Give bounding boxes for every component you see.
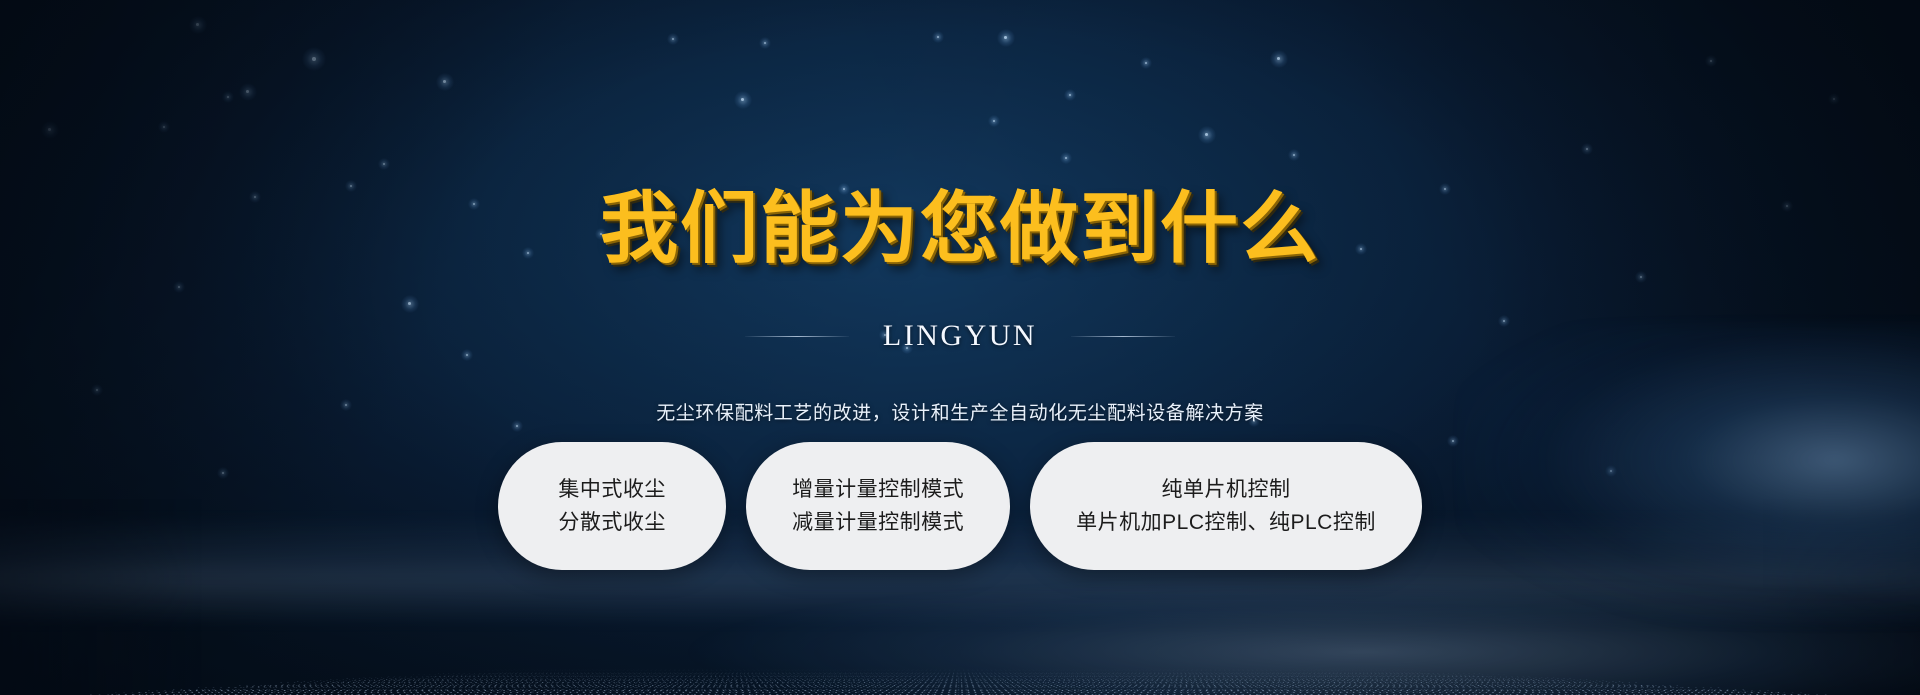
- hero-banner: 我们能为您做到什么 LINGYUN 无尘环保配料工艺的改进，设计和生产全自动化无…: [0, 0, 1920, 695]
- feature-card-line: 减量计量控制模式: [792, 512, 964, 533]
- feature-card-line: 增量计量控制模式: [792, 479, 964, 500]
- feature-card-line: 纯单片机控制: [1161, 479, 1290, 500]
- page-title: 我们能为您做到什么: [0, 186, 1920, 273]
- feature-card-list: 集中式收尘 分散式收尘 增量计量控制模式 减量计量控制模式 纯单片机控制 单片机…: [0, 442, 1920, 570]
- feature-card-line: 集中式收尘: [558, 479, 666, 500]
- brand-subtitle-row: LINGYUN: [0, 321, 1920, 351]
- feature-card-metering-control-mode[interactable]: 增量计量控制模式 减量计量控制模式: [746, 442, 1010, 570]
- brand-subtitle: LINGYUN: [883, 321, 1037, 351]
- feature-card-controller-type[interactable]: 纯单片机控制 单片机加PLC控制、纯PLC控制: [1030, 442, 1422, 570]
- divider-line-right: [1071, 336, 1175, 337]
- feature-card-dust-collection[interactable]: 集中式收尘 分散式收尘: [498, 442, 726, 570]
- feature-card-line: 分散式收尘: [558, 512, 666, 533]
- hero-description: 无尘环保配料工艺的改进，设计和生产全自动化无尘配料设备解决方案: [0, 401, 1920, 428]
- feature-card-line: 单片机加PLC控制、纯PLC控制: [1076, 512, 1376, 533]
- divider-line-left: [745, 336, 849, 337]
- hero-content: 我们能为您做到什么 LINGYUN 无尘环保配料工艺的改进，设计和生产全自动化无…: [0, 0, 1920, 695]
